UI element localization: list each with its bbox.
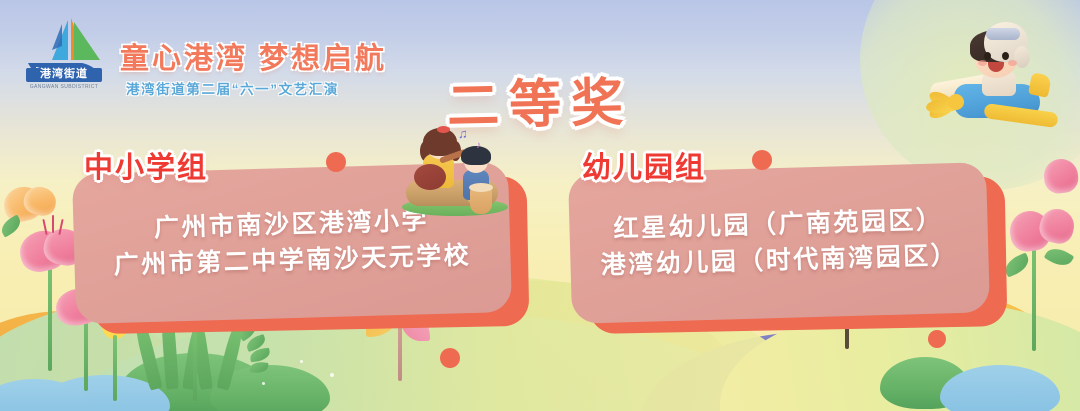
tulip-leaf-right (1044, 244, 1075, 271)
bush-blue-1 (40, 375, 170, 411)
pilot-goggles (986, 28, 1020, 40)
drum-top (469, 183, 493, 192)
poster-canvas: 港湾街道 GANGWAN SUBDISTRICT 童心港湾 梦想启航 港湾街道第… (0, 0, 1080, 411)
bush-blue-2 (0, 379, 90, 411)
plane-tail (1028, 72, 1052, 98)
fern-leaf (249, 361, 268, 374)
decor-dot-top (326, 152, 346, 172)
orange-tulip-petal (0, 183, 45, 225)
purple-wave (640, 331, 970, 411)
pilot-eye (1002, 52, 1009, 60)
sparkle (262, 382, 265, 385)
daisy-stem (113, 335, 117, 401)
pilot-eye (984, 52, 991, 60)
fern-leaf (245, 334, 268, 352)
tulip-stamen (42, 219, 47, 235)
sparkle (330, 373, 334, 377)
pilot-cap-earflap (1014, 46, 1030, 68)
tulip-stem (48, 261, 52, 371)
pilot-cheek (1008, 60, 1017, 66)
group-card-kindergarten: 红星幼儿园（广南苑园区） 港湾幼儿园（时代南湾园区） (570, 168, 1010, 326)
kids-music-illustration: ♫ ♪ (382, 128, 522, 220)
group-label-kindergarten: 幼儿园组 (582, 144, 706, 186)
tulip-stamen (52, 215, 54, 233)
tulip-stem-right (1032, 241, 1036, 351)
daisy-stem (193, 323, 197, 401)
group-label-primary-secondary: 中小学组 (84, 144, 208, 186)
decor-dot-top (928, 330, 946, 348)
card-surface: 红星幼儿园（广南苑园区） 港湾幼儿园（时代南湾园区） (568, 162, 990, 324)
winner-list: 红星幼儿园（广南苑园区） 港湾幼儿园（时代南湾园区） (569, 202, 989, 285)
tulip-leaf (0, 214, 24, 237)
propeller-hub (948, 94, 964, 110)
tulip-stamen (58, 219, 63, 235)
bush-3 (880, 357, 970, 409)
bush-2 (210, 365, 330, 411)
pilot-cheek (978, 60, 987, 66)
bush-1 (120, 353, 270, 411)
sparkle (300, 360, 303, 363)
tulip-petal-right (1042, 157, 1079, 194)
decor-dot-top (752, 150, 772, 170)
music-note-icon: ♫ (458, 126, 468, 141)
orange-tulip-petal (21, 184, 59, 219)
music-note-icon: ♪ (476, 140, 481, 151)
child-pilot-illustration (926, 16, 1076, 136)
girl-hair-bow (437, 126, 450, 133)
tulip-petal-right (1007, 208, 1052, 253)
decor-dot-top (440, 348, 460, 368)
purple-wave-2 (720, 361, 930, 411)
fern-leaf (249, 348, 270, 363)
tulip-petal (16, 227, 69, 276)
guitar-body (414, 164, 446, 190)
water-band-right (750, 341, 1050, 411)
bush-blue-3 (940, 365, 1060, 411)
tulip-petal-right (1036, 205, 1077, 246)
